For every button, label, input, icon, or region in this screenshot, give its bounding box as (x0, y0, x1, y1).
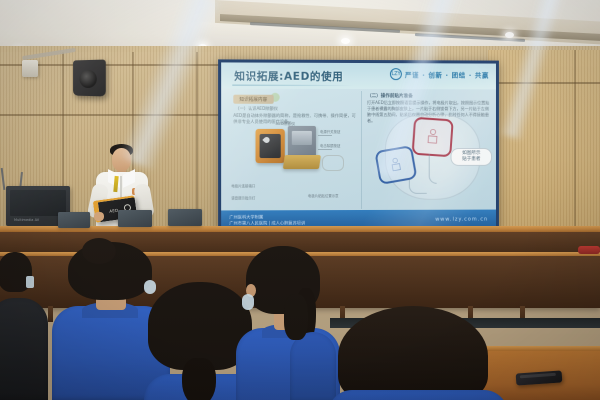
attendee-ponytail (182, 358, 216, 400)
label-power-button: 电源开关按钮 (320, 129, 340, 134)
phone-screen-gloss (520, 373, 556, 379)
electrode-wire (409, 180, 427, 194)
label-pad-position: 电极片粘贴位置示意 (308, 193, 339, 198)
pad-instruction-callout: 如图所示 贴于患者 (451, 148, 493, 166)
downlight (341, 38, 350, 44)
aed-case-panel (260, 134, 281, 158)
left-heading: （一）认识AED除颤仪 (235, 106, 278, 112)
aed-closed-case (256, 129, 285, 163)
label-pad-port: 电极片连接端口 (231, 183, 255, 188)
attendee-5 (290, 268, 334, 400)
wood-grain-texture (488, 50, 600, 250)
red-object-on-desk (578, 246, 600, 254)
callout-leader (318, 135, 332, 136)
downlight (505, 32, 514, 38)
attendee-torso (328, 390, 508, 400)
attendee-6 (338, 306, 498, 400)
right-wall (488, 50, 600, 250)
brand-logo: LZY 严谨 · 创新 · 团结 · 共赢 (390, 68, 489, 80)
label-shock-button: 电击除颤按钮 (320, 143, 340, 148)
attendee-hair-bun (82, 238, 116, 264)
aed-display (292, 131, 312, 145)
attendee-torso (0, 298, 48, 400)
footer-org-line2: 广州市第八人民医院 | 成人心肺复苏培训 (229, 220, 305, 226)
desk-monitor (168, 209, 202, 226)
face-mask-strap (242, 294, 254, 310)
monitor-label: Multimedia AV (14, 218, 39, 222)
wall-seam (0, 114, 225, 116)
attendee-torso (290, 332, 336, 400)
footer-org-block: 广州医科大学附属 广州市第八人民医院 | 成人心肺复苏培训 (229, 214, 305, 226)
wall-mounted-box (22, 60, 38, 77)
slide-left-panel: 知识拓展内容 （一）认识AED除颤仪 AED是自动体外除颤器的简称，是抢救性、可… (229, 93, 358, 212)
aed-base-tray (283, 155, 321, 169)
speaker-cone (80, 70, 97, 88)
attendee-hair (284, 294, 308, 340)
photo-scene: 知识拓展:AED的使用 LZY 严谨 · 创新 · 团结 · 共赢 知识拓展内容… (0, 0, 600, 400)
attendee-1 (0, 252, 40, 400)
desk-monitor (118, 210, 152, 227)
projection-screen: 知识拓展:AED的使用 LZY 严谨 · 创新 · 团结 · 共赢 知识拓展内容… (218, 59, 499, 232)
attendee-hair (338, 306, 488, 400)
slide-title: 知识拓展:AED的使用 (234, 69, 343, 84)
footer-url: www.lzy.com.cn (435, 216, 488, 222)
presenter-hand-left (94, 212, 104, 221)
pad-red (412, 117, 454, 158)
logo-slogan: 严谨 · 创新 · 团结 · 共赢 (405, 69, 489, 79)
pad-placement-icon (421, 126, 444, 148)
aed-pads-sketch (322, 155, 344, 171)
callout-leader (318, 149, 332, 150)
section-tag: 知识拓展内容 (233, 95, 273, 104)
electrode-wire (429, 154, 437, 184)
label-voice-indicator: 语音提示指示灯 (231, 195, 255, 200)
wall-seam (574, 50, 576, 250)
right-heading: （二）操作前贴片准备 (367, 93, 413, 99)
slide-column-divider (361, 91, 362, 209)
wall-speaker-icon (73, 60, 106, 97)
presentation-slide: 知识拓展:AED的使用 LZY 严谨 · 创新 · 团结 · 共赢 知识拓展内容… (221, 62, 496, 229)
logo-mark-icon: LZY (390, 68, 402, 80)
wall-seam (488, 82, 600, 84)
pad-placement-icon (384, 154, 407, 175)
callout-line-2: 贴于患者 (462, 157, 480, 163)
face-mask-strap (26, 276, 34, 288)
slide-right-panel: （二）操作前贴片准备 打开AED后立即按照语音提示操作，将电极片取出，按照图示位… (365, 92, 492, 210)
desk-monitor (58, 212, 90, 228)
